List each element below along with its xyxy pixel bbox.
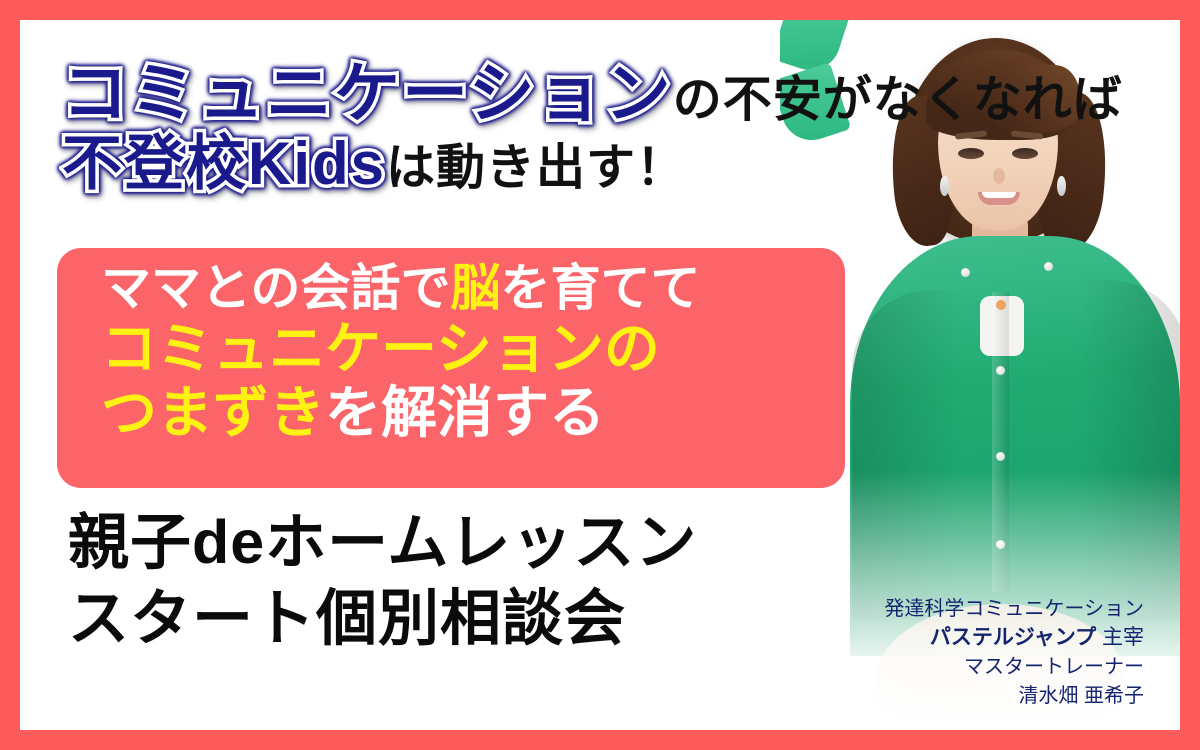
photo-shirt-shadow-right: [1080, 280, 1180, 620]
pink-row3-part-2: を解消する: [325, 381, 605, 444]
banner-frame: コミュニケーションの不安がなくなれば 不登校Kidsは動き出す！ ママとの会話で…: [0, 0, 1200, 750]
credit-role-secondary: マスタートレーナー: [814, 653, 1144, 681]
photo-nose: [993, 168, 1005, 184]
pink-panel-row-1: ママとの会話で脳を育てて: [101, 262, 845, 314]
photo-eye-left: [958, 148, 984, 159]
photo-mouth: [978, 192, 1020, 205]
headline-decorated-2: 不登校Kids: [62, 130, 386, 197]
photo-shirt-placket: [992, 292, 1009, 592]
program-title-line-2: スタート個別相談会: [68, 580, 828, 656]
photo-neck: [972, 208, 1028, 264]
headline-plain-2: は動き出す！: [386, 141, 686, 195]
main-headline: コミュニケーションの不安がなくなれば 不登校Kidsは動き出す！: [62, 60, 842, 195]
pink-row1-part-2: 脳: [451, 260, 501, 316]
headline-decorated-1: コミュニケーション: [62, 56, 673, 130]
headline-line-1: コミュニケーションの不安がなくなれば: [62, 60, 842, 127]
photo-eyebrow-left: [955, 130, 987, 139]
photo-shirt-shadow-left: [852, 290, 962, 620]
photo-eye-right: [1012, 148, 1038, 159]
photo-collar-button: [1044, 262, 1053, 271]
photo-eyebrow-right: [1011, 130, 1043, 139]
photo-earring-left: [940, 176, 949, 196]
credit-person-name: 清水畑 亜希子: [814, 682, 1144, 710]
photo-green-shirt: [850, 236, 1180, 656]
banner-canvas: コミュニケーションの不安がなくなれば 不登校Kidsは動き出す！ ママとの会話で…: [20, 20, 1180, 730]
photo-shirt-button: [996, 452, 1005, 461]
photo-hair-back: [902, 38, 1090, 243]
credit-brand: パステルジャンプ: [930, 626, 1096, 649]
photo-shirt-button: [996, 366, 1005, 375]
photo-necklace: [996, 300, 1006, 310]
presenter-credit: 発達科学コミュニケーション パステルジャンプ 主宰 マスタートレーナー 清水畑 …: [814, 595, 1144, 710]
photo-inner-tee: [980, 296, 1024, 356]
pink-panel-row-2: コミュニケーションの: [101, 320, 845, 378]
pink-row1-part-1: ママとの会話で: [101, 260, 451, 316]
program-title-line-1: 親子deホームレッスン: [68, 504, 828, 580]
credit-brand-line: パステルジャンプ 主宰: [814, 623, 1144, 653]
photo-collar-button: [961, 268, 970, 277]
headline-line-2: 不登校Kidsは動き出す！: [62, 133, 842, 194]
headline-plain-1: の不安がなくなれば: [673, 73, 1123, 127]
credit-role-primary: 主宰: [1102, 626, 1144, 649]
photo-shirt-button: [996, 540, 1005, 549]
pink-row1-part-3: を育てて: [501, 260, 701, 316]
photo-earring-right: [1057, 176, 1066, 196]
credit-organization: 発達科学コミュニケーション: [814, 595, 1144, 623]
photo-teeth: [982, 192, 1016, 198]
program-title: 親子deホームレッスン スタート個別相談会: [68, 504, 828, 657]
pink-callout-panel: ママとの会話で脳を育てて コミュニケーションの つまずきを解消する: [57, 248, 845, 488]
pink-panel-row-3: つまずきを解消する: [101, 384, 845, 442]
pink-row2-part-1: コミュニケーションの: [101, 317, 660, 380]
pink-row3-part-1: つまずき: [101, 381, 325, 444]
